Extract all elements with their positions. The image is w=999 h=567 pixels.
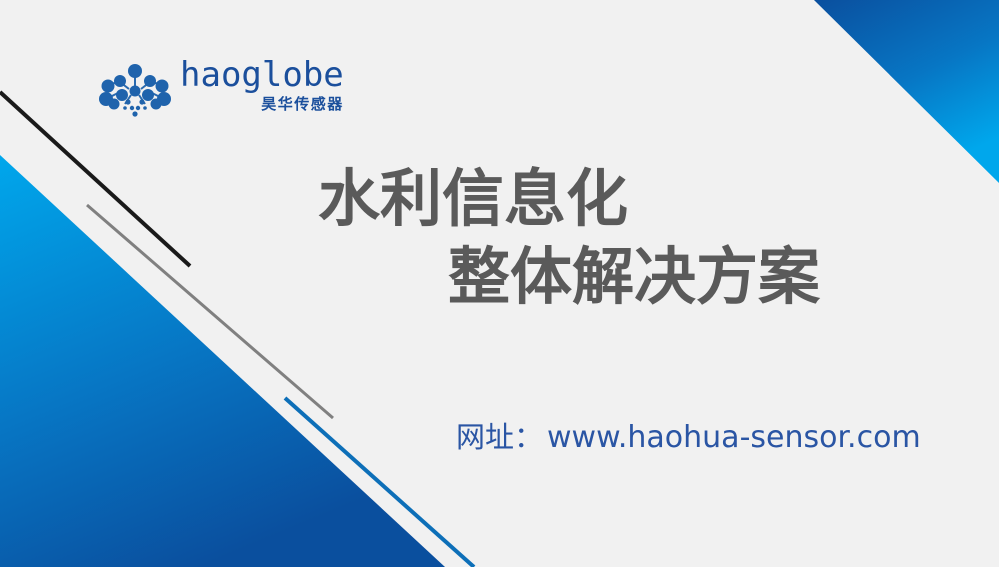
- website-label: 网址：: [456, 420, 543, 454]
- haoglobe-network-dots-icon: [98, 62, 172, 120]
- logo-text-group: haoglobe 昊华传感器: [180, 58, 344, 113]
- website-line: 网址： www.haohua-sensor.com: [456, 420, 921, 455]
- logo-subtitle: 昊华传感器: [261, 95, 344, 113]
- company-logo[interactable]: haoglobe 昊华传感器: [98, 58, 344, 120]
- top-right-blue-triangle: [814, 0, 999, 183]
- logo-wordmark: haoglobe: [180, 58, 344, 92]
- title-slide: haoglobe 昊华传感器 水利信息化 整体解决方案 网址： www.haoh…: [0, 0, 999, 567]
- website-url[interactable]: www.haohua-sensor.com: [547, 421, 921, 455]
- left-blue-triangle: [0, 155, 445, 567]
